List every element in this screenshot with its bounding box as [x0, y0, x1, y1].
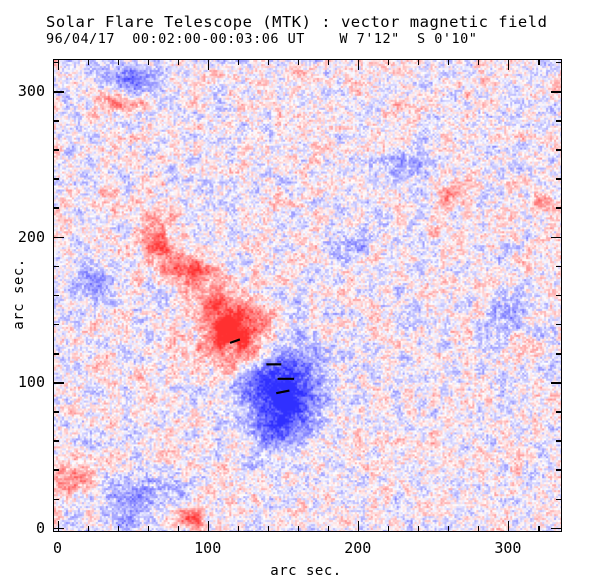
y-tick-label-200: 200	[0, 228, 45, 246]
y-tick-40	[53, 469, 59, 471]
y-tick-right-20	[556, 499, 562, 501]
figure-title-primary: Solar Flare Telescope (MTK) : vector mag…	[46, 14, 586, 31]
x-tick-20	[88, 526, 90, 532]
y-tick-right-220	[556, 207, 562, 209]
x-tick-top-200	[358, 59, 360, 70]
x-tick-top-320	[538, 59, 540, 65]
x-tick-top-60	[148, 59, 150, 65]
x-tick-top-180	[328, 59, 330, 65]
x-tick-240	[418, 526, 420, 532]
y-tick-280	[53, 120, 59, 122]
y-tick-260	[53, 149, 59, 151]
x-axis-title: arc sec.	[0, 563, 612, 579]
y-tick-160	[53, 295, 59, 297]
x-tick-60	[148, 526, 150, 532]
x-tick-200	[358, 521, 360, 532]
y-tick-right-100	[551, 382, 562, 384]
x-tick-label-0: 0	[53, 539, 62, 557]
x-tick-80	[178, 526, 180, 532]
x-tick-300	[508, 521, 510, 532]
x-tick-100	[208, 521, 210, 532]
y-tick-140	[53, 324, 59, 326]
x-tick-180	[328, 526, 330, 532]
magnetogram-image	[54, 60, 561, 531]
y-tick-80	[53, 411, 59, 413]
x-tick-top-20	[88, 59, 90, 65]
y-tick-320	[53, 62, 59, 64]
plot-area	[53, 59, 562, 532]
y-tick-right-280	[556, 120, 562, 122]
x-tick-top-0	[58, 59, 60, 70]
y-tick-right-300	[551, 91, 562, 93]
x-tick-260	[448, 526, 450, 532]
x-tick-220	[388, 526, 390, 532]
y-tick-100	[53, 382, 64, 384]
figure-title-secondary: 96/04/17 00:02:00-00:03:06 UT W 7'12" S …	[46, 31, 586, 47]
y-tick-right-160	[556, 295, 562, 297]
x-tick-top-260	[448, 59, 450, 65]
x-tick-160	[298, 526, 300, 532]
y-tick-60	[53, 440, 59, 442]
x-tick-top-300	[508, 59, 510, 70]
y-tick-0	[53, 528, 64, 530]
y-tick-right-0	[551, 528, 562, 530]
figure-title-block: Solar Flare Telescope (MTK) : vector mag…	[46, 14, 586, 47]
y-tick-120	[53, 353, 59, 355]
y-tick-20	[53, 499, 59, 501]
y-tick-right-320	[556, 62, 562, 64]
y-tick-right-40	[556, 469, 562, 471]
x-tick-top-280	[478, 59, 480, 65]
y-tick-right-240	[556, 178, 562, 180]
x-tick-top-220	[388, 59, 390, 65]
y-tick-220	[53, 207, 59, 209]
x-tick-40	[118, 526, 120, 532]
x-tick-top-140	[268, 59, 270, 65]
x-tick-top-160	[298, 59, 300, 65]
y-axis-title: arc sec.	[11, 244, 27, 344]
y-tick-right-200	[551, 237, 562, 239]
y-tick-right-60	[556, 440, 562, 442]
x-tick-280	[478, 526, 480, 532]
x-tick-top-80	[178, 59, 180, 65]
y-tick-right-80	[556, 411, 562, 413]
y-tick-240	[53, 178, 59, 180]
y-tick-right-180	[556, 266, 562, 268]
y-tick-label-300: 300	[0, 82, 45, 100]
x-tick-0	[58, 521, 60, 532]
x-tick-label-100: 100	[194, 539, 221, 557]
x-tick-top-40	[118, 59, 120, 65]
y-tick-right-140	[556, 324, 562, 326]
y-tick-label-0: 0	[0, 519, 45, 537]
x-tick-top-240	[418, 59, 420, 65]
magnetogram-figure: Solar Flare Telescope (MTK) : vector mag…	[0, 0, 612, 585]
y-tick-right-260	[556, 149, 562, 151]
y-tick-300	[53, 91, 64, 93]
x-tick-top-120	[238, 59, 240, 65]
x-tick-label-300: 300	[494, 539, 521, 557]
x-tick-label-200: 200	[344, 539, 371, 557]
y-tick-180	[53, 266, 59, 268]
x-tick-320	[538, 526, 540, 532]
y-tick-200	[53, 237, 64, 239]
x-tick-120	[238, 526, 240, 532]
y-tick-label-100: 100	[0, 373, 45, 391]
y-tick-right-120	[556, 353, 562, 355]
x-tick-140	[268, 526, 270, 532]
x-tick-top-100	[208, 59, 210, 70]
